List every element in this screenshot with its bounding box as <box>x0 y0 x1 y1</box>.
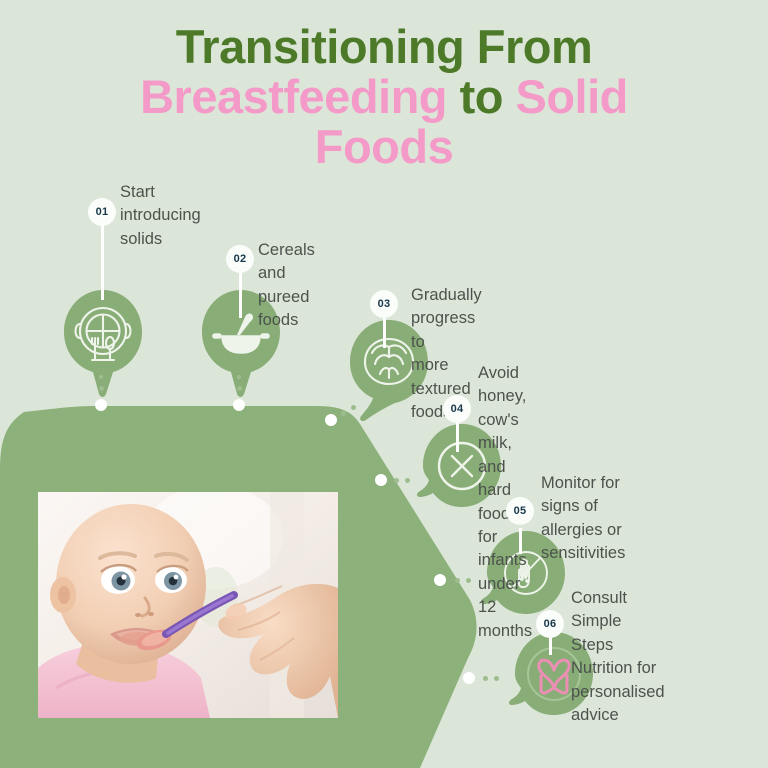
step-06-stem <box>549 635 552 655</box>
step-05-badge: 05 <box>506 497 534 525</box>
step-02-badge: 02 <box>226 245 254 273</box>
step-06-caption: Consult Simple Steps Nutrition for perso… <box>571 587 665 728</box>
trail-dot <box>483 676 488 681</box>
trail-dot <box>351 405 356 410</box>
step-02-stem <box>239 272 242 318</box>
trail-dot <box>466 578 471 583</box>
title-line-2-part-a: Breastfeeding <box>140 70 459 123</box>
step-04-stem <box>456 422 459 452</box>
trail-dot <box>455 578 460 583</box>
trail-endpoint-dot <box>434 574 446 586</box>
step-04-badge: 04 <box>443 395 471 423</box>
step-01-badge: 01 <box>88 198 116 226</box>
trail-dot <box>237 375 241 379</box>
trail-dot <box>237 386 242 391</box>
trail-dot <box>394 478 399 483</box>
step-01-stem <box>101 214 104 300</box>
infographic-canvas: Transitioning From Breastfeeding to Soli… <box>0 0 768 768</box>
title-line-2-part-c: Solid <box>516 70 628 123</box>
page-title: Transitioning From Breastfeeding to Soli… <box>0 22 768 171</box>
step-01-caption: Start introducing solids <box>120 181 201 251</box>
step-02-caption: Cereals and pureed foods <box>258 239 315 333</box>
trail-endpoint-dot <box>463 672 475 684</box>
trail-dot <box>99 386 104 391</box>
trail-dot <box>405 478 410 483</box>
trail-dot <box>99 375 103 379</box>
step-05-caption: Monitor for signs of allergies or sensit… <box>541 472 625 566</box>
step-01-bubble <box>62 290 144 398</box>
trail-endpoint-dot <box>233 399 245 411</box>
title-line-2: Breastfeeding to Solid <box>0 72 768 122</box>
title-line-1: Transitioning From <box>0 22 768 72</box>
title-line-2-part-b: to <box>460 70 516 123</box>
trail-dot <box>494 676 499 681</box>
trail-endpoint-dot <box>375 474 387 486</box>
title-line-3: Foods <box>0 122 768 172</box>
trail-dot <box>341 411 346 416</box>
trail-endpoint-dot <box>325 414 337 426</box>
trail-endpoint-dot <box>95 399 107 411</box>
step-03-badge: 03 <box>370 290 398 318</box>
step-06-badge: 06 <box>536 610 564 638</box>
step-03-stem <box>383 318 386 348</box>
baby-feeding-photo <box>38 492 338 718</box>
